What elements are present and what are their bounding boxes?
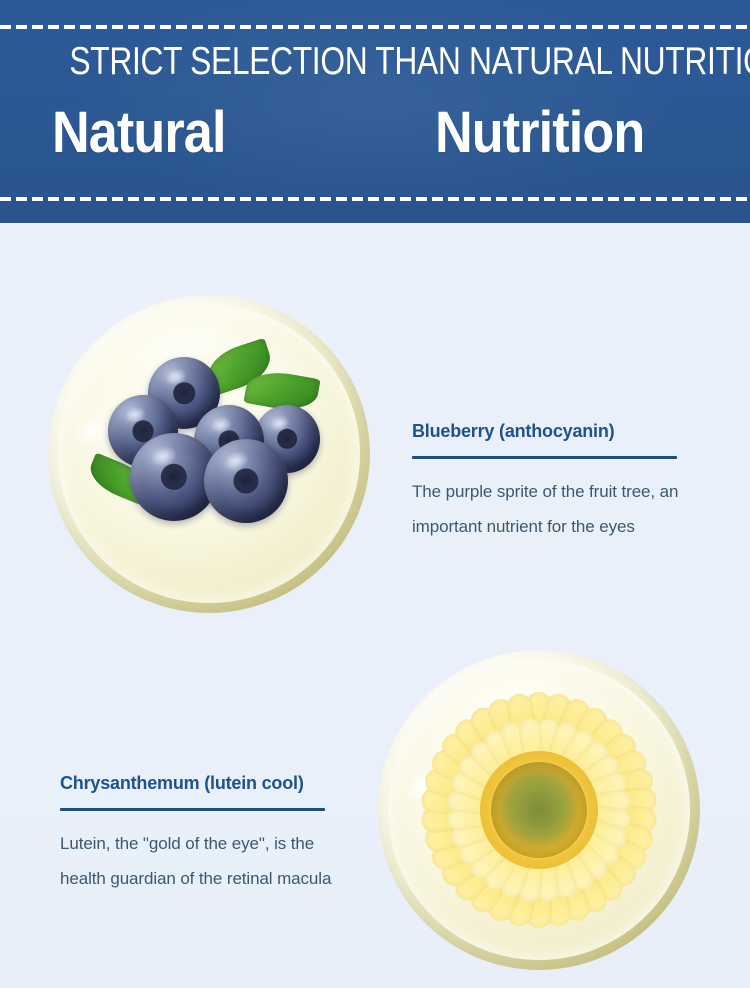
chrysanthemum-title: Chrysanthemum (lutein cool) — [60, 771, 346, 795]
chrysanthemum-image — [378, 650, 700, 970]
berry-shape — [204, 439, 288, 523]
banner-keywords: Natural Nutrition — [0, 97, 750, 177]
daisy-flower — [378, 650, 700, 970]
blueberry-description: The purple sprite of the fruit tree, an … — [412, 474, 698, 544]
blueberry-info-block: Blueberry (anthocyanin) The purple sprit… — [412, 419, 698, 544]
chrysanthemum-info-block: Chrysanthemum (lutein cool) Lutein, the … — [60, 771, 346, 896]
blueberry-image — [48, 295, 370, 613]
chrysanthemum-description: Lutein, the "gold of the eye", is the he… — [60, 826, 346, 896]
chrysanthemum-divider — [60, 808, 325, 811]
banner-keyword-natural: Natural — [52, 97, 226, 169]
header-banner: STRICT SELECTION THAN NATURAL NUTRITION … — [0, 0, 750, 223]
blueberry-divider — [412, 456, 677, 459]
dashed-divider-bottom — [0, 197, 750, 201]
blueberry-title: Blueberry (anthocyanin) — [412, 419, 698, 443]
flower-core — [491, 762, 587, 858]
blueberry-cluster — [48, 295, 370, 613]
banner-headline: STRICT SELECTION THAN NATURAL NUTRITION — [69, 39, 680, 85]
content-area: Blueberry (anthocyanin) The purple sprit… — [0, 223, 750, 988]
dashed-divider-top — [0, 25, 750, 29]
banner-keyword-nutrition: Nutrition — [435, 97, 644, 169]
